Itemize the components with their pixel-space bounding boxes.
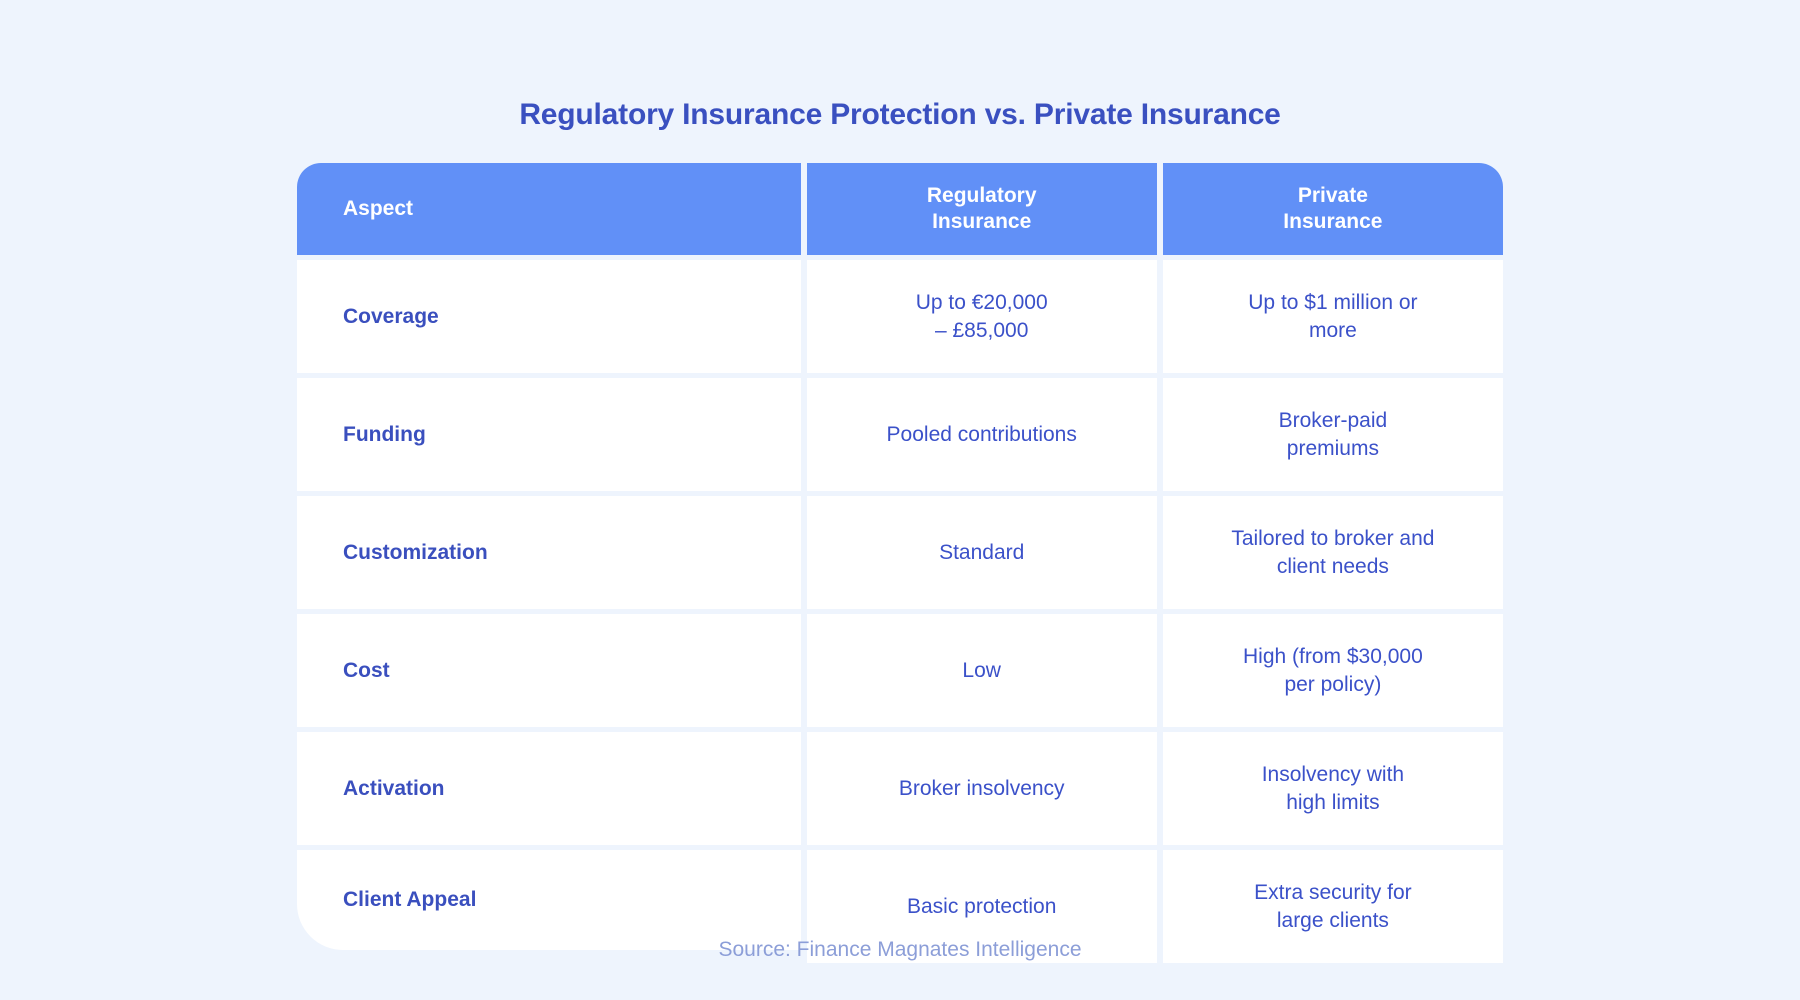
cell-aspect: Client Appeal [297,850,801,950]
cell-regulatory: Broker insolvency [807,732,1157,845]
cell-aspect: Coverage [297,260,801,373]
cell-private: Insolvency with high limits [1163,732,1503,845]
cell-private: High (from $30,000 per policy) [1163,614,1503,727]
comparison-table: Aspect Regulatory Insurance Private Insu… [297,163,1503,963]
table-row: Coverage Up to €20,000 – £85,000 Up to $… [297,260,1503,373]
cell-aspect-text: Coverage [343,303,439,331]
cell-aspect-text: Client Appeal [343,886,476,914]
cell-aspect-text: Cost [343,657,390,685]
column-header-regulatory-insurance-label: Regulatory Insurance [927,183,1037,236]
cell-aspect-text: Activation [343,775,445,803]
cell-regulatory-text: Broker insolvency [899,775,1065,803]
cell-aspect: Cost [297,614,801,727]
cell-private-text: Broker-paid premiums [1279,407,1388,462]
cell-aspect-text: Customization [343,539,488,567]
cell-regulatory-text: Standard [939,539,1024,567]
cell-private-text: Extra security for large clients [1254,879,1412,934]
column-header-private-insurance-label: Private Insurance [1283,183,1382,236]
cell-regulatory: Pooled contributions [807,378,1157,491]
cell-regulatory: Low [807,614,1157,727]
table-body: Coverage Up to €20,000 – £85,000 Up to $… [297,260,1503,963]
column-header-regulatory-insurance: Regulatory Insurance [807,163,1157,255]
cell-aspect-text: Funding [343,421,426,449]
cell-private: Broker-paid premiums [1163,378,1503,491]
cell-private-text: Insolvency with high limits [1262,761,1404,816]
cell-aspect: Customization [297,496,801,609]
cell-regulatory-text: Pooled contributions [887,421,1077,449]
cell-regulatory-text: Low [962,657,1001,685]
column-header-private-insurance: Private Insurance [1163,163,1503,255]
cell-regulatory: Up to €20,000 – £85,000 [807,260,1157,373]
column-header-aspect-label: Aspect [343,196,413,222]
table-row: Customization Standard Tailored to broke… [297,496,1503,609]
cell-regulatory-text: Up to €20,000 – £85,000 [916,289,1048,344]
cell-private: Up to $1 million or more [1163,260,1503,373]
cell-aspect: Activation [297,732,801,845]
cell-private: Tailored to broker and client needs [1163,496,1503,609]
table-header-row: Aspect Regulatory Insurance Private Insu… [297,163,1503,255]
table-row: Cost Low High (from $30,000 per policy) [297,614,1503,727]
cell-private-text: High (from $30,000 per policy) [1243,643,1423,698]
comparison-table-infographic: Regulatory Insurance Protection vs. Priv… [0,0,1800,1000]
page-title: Regulatory Insurance Protection vs. Priv… [0,98,1800,132]
table-row: Funding Pooled contributions Broker-paid… [297,378,1503,491]
cell-private-text: Up to $1 million or more [1248,289,1417,344]
cell-regulatory-text: Basic protection [907,893,1056,921]
cell-aspect: Funding [297,378,801,491]
cell-private-text: Tailored to broker and client needs [1231,525,1434,580]
source-caption: Source: Finance Magnates Intelligence [0,938,1800,962]
table-row: Activation Broker insolvency Insolvency … [297,732,1503,845]
column-header-aspect: Aspect [297,163,801,255]
cell-regulatory: Standard [807,496,1157,609]
